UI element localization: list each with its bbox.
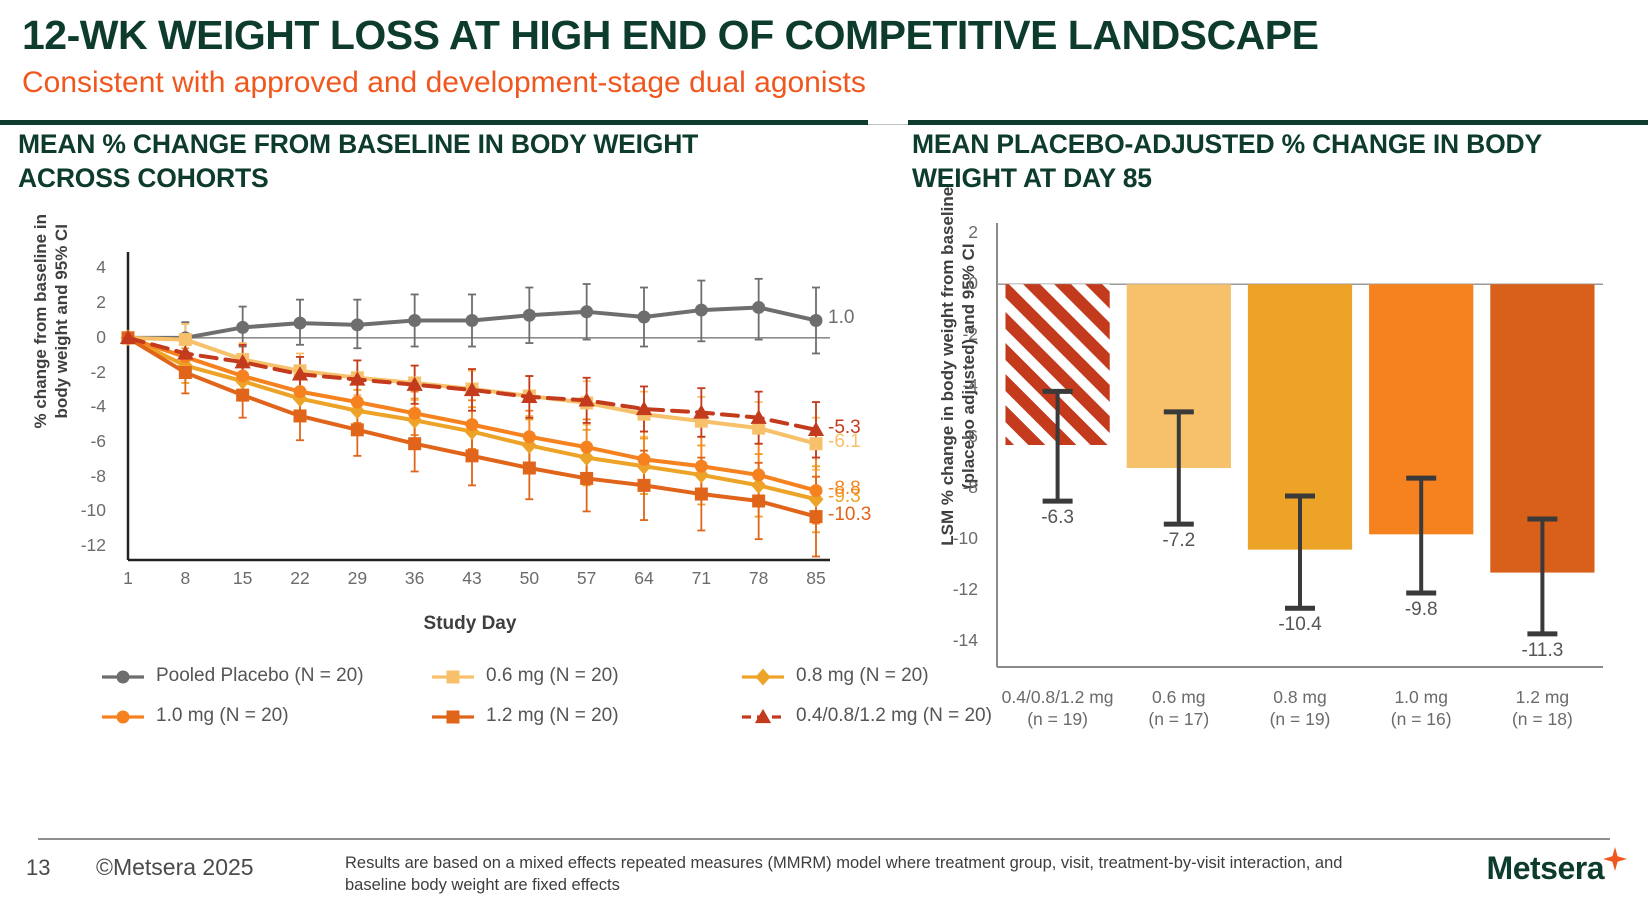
sparkle-icon: [1600, 845, 1630, 875]
line-chart-x-tick: 57: [562, 568, 612, 589]
line-chart-end-label: -8.8: [828, 478, 861, 500]
line-chart-svg: [110, 250, 830, 570]
legend-row: 1.0 mg (N = 20)1.2 mg (N = 20)0.4/0.8/1.…: [100, 705, 890, 745]
legend-label: 0.8 mg (N = 20): [796, 665, 929, 687]
page-subtitle: Consistent with approved and development…: [22, 66, 866, 100]
line-chart-end-label: -5.3: [828, 417, 861, 439]
legend-marker-icon: [430, 706, 476, 726]
bar-chart-x-tick: 0.4/0.8/1.2 mg(n = 19): [997, 687, 1118, 731]
logo-wordmark: Metsera: [1487, 850, 1604, 887]
line-chart-y-tick: -12: [58, 535, 106, 556]
line-chart: [110, 250, 830, 570]
line-chart-x-tick: 22: [275, 568, 325, 589]
line-chart-y-tick: 0: [58, 327, 106, 348]
bar-value-label: -11.3: [1497, 640, 1587, 662]
bar-chart-y-tick: 0: [930, 273, 978, 294]
bar-category-n: (n = 16): [1361, 709, 1482, 731]
bar-value-label: -6.3: [1013, 507, 1103, 529]
legend-marker-icon: [740, 666, 786, 686]
bar-category-label: 1.0 mg: [1361, 687, 1482, 709]
bar-chart-y-tick: -6: [930, 426, 978, 447]
bar-value-label: -10.4: [1255, 614, 1345, 636]
legend-marker-icon: [430, 666, 476, 686]
bar-chart-svg: [985, 215, 1610, 680]
line-chart-x-tick: 15: [218, 568, 268, 589]
line-chart-end-label: 1.0: [828, 307, 854, 329]
footer-divider: [38, 838, 1610, 840]
legend-label: 1.0 mg (N = 20): [156, 705, 289, 727]
line-chart-legend: Pooled Placebo (N = 20)0.6 mg (N = 20)0.…: [100, 665, 890, 745]
line-chart-y-tick: -6: [58, 431, 106, 452]
legend-item[interactable]: 1.2 mg (N = 20): [430, 705, 619, 727]
line-chart-x-axis-label: Study Day: [110, 612, 830, 636]
bar-chart-y-tick: 2: [930, 222, 978, 243]
bar-value-label: -9.8: [1376, 599, 1466, 621]
bar-chart-x-tick: 1.0 mg(n = 16): [1361, 687, 1482, 731]
bar-chart-y-tick: -10: [930, 528, 978, 549]
line-chart-x-tick: 64: [619, 568, 669, 589]
line-chart-y-tick: 4: [58, 257, 106, 278]
line-chart-x-tick: 29: [332, 568, 382, 589]
legend-item[interactable]: 0.8 mg (N = 20): [740, 665, 929, 687]
legend-label: Pooled Placebo (N = 20): [156, 665, 364, 687]
legend-marker-icon: [100, 666, 146, 686]
legend-label: 0.4/0.8/1.2 mg (N = 20): [796, 705, 992, 727]
line-chart-y-tick: -2: [58, 362, 106, 383]
header-rule-left: [0, 120, 868, 125]
line-chart-y-tick: 2: [58, 292, 106, 313]
bar-chart-x-tick: 0.6 mg(n = 17): [1118, 687, 1239, 731]
bar-chart-x-tick: 0.8 mg(n = 19): [1239, 687, 1360, 731]
bar-category-label: 0.8 mg: [1239, 687, 1360, 709]
line-chart-y-tick: -4: [58, 396, 106, 417]
bar-category-label: 0.6 mg: [1118, 687, 1239, 709]
bar-category-n: (n = 18): [1482, 709, 1603, 731]
line-chart-y-tick: -10: [58, 500, 106, 521]
legend-item[interactable]: 0.6 mg (N = 20): [430, 665, 619, 687]
legend-row: Pooled Placebo (N = 20)0.6 mg (N = 20)0.…: [100, 665, 890, 705]
header-rule-right: [908, 120, 1648, 125]
page-number: 13: [26, 855, 50, 881]
bar-chart-y-tick: -2: [930, 324, 978, 345]
bar-chart-y-tick: -8: [930, 477, 978, 498]
line-chart-x-tick: 8: [160, 568, 210, 589]
legend-label: 1.2 mg (N = 20): [486, 705, 619, 727]
bar-chart: [985, 215, 1610, 680]
bar-chart-y-tick: -4: [930, 375, 978, 396]
legend-item[interactable]: 0.4/0.8/1.2 mg (N = 20): [740, 705, 992, 727]
copyright-text: ©Metsera 2025: [96, 854, 254, 881]
bar-chart-x-tick: 1.2 mg(n = 18): [1482, 687, 1603, 731]
line-chart-y-tick: -8: [58, 466, 106, 487]
page-title: 12-WK WEIGHT LOSS AT HIGH END OF COMPETI…: [22, 12, 1318, 59]
line-chart-x-tick: 50: [504, 568, 554, 589]
bar-category-label: 1.2 mg: [1482, 687, 1603, 709]
line-chart-end-label: -10.3: [828, 504, 871, 526]
footnote-text: Results are based on a mixed effects rep…: [345, 852, 1355, 897]
line-chart-x-tick: 43: [447, 568, 497, 589]
line-chart-x-tick: 36: [390, 568, 440, 589]
bar-value-label: -7.2: [1134, 530, 1224, 552]
metsera-logo: Metsera: [1487, 850, 1630, 887]
line-chart-x-tick: 85: [791, 568, 841, 589]
bar-chart-y-tick: -12: [930, 579, 978, 600]
bar-category-n: (n = 17): [1118, 709, 1239, 731]
bar-category-n: (n = 19): [1239, 709, 1360, 731]
bar-chart-y-tick: -14: [930, 630, 978, 651]
legend-label: 0.6 mg (N = 20): [486, 665, 619, 687]
line-chart-x-tick: 71: [676, 568, 726, 589]
bar-category-n: (n = 19): [997, 709, 1118, 731]
line-chart-x-tick: 1: [103, 568, 153, 589]
left-panel-title: MEAN % CHANGE FROM BASELINE IN BODY WEIG…: [18, 128, 808, 196]
legend-marker-icon: [100, 706, 146, 726]
legend-item[interactable]: Pooled Placebo (N = 20): [100, 665, 364, 687]
right-panel-title: MEAN PLACEBO-ADJUSTED % CHANGE IN BODY W…: [912, 128, 1642, 196]
bar-category-label: 0.4/0.8/1.2 mg: [997, 687, 1118, 709]
legend-item[interactable]: 1.0 mg (N = 20): [100, 705, 289, 727]
legend-marker-icon: [740, 706, 786, 726]
slide: 12-WK WEIGHT LOSS AT HIGH END OF COMPETI…: [0, 0, 1648, 911]
line-chart-x-tick: 78: [734, 568, 784, 589]
